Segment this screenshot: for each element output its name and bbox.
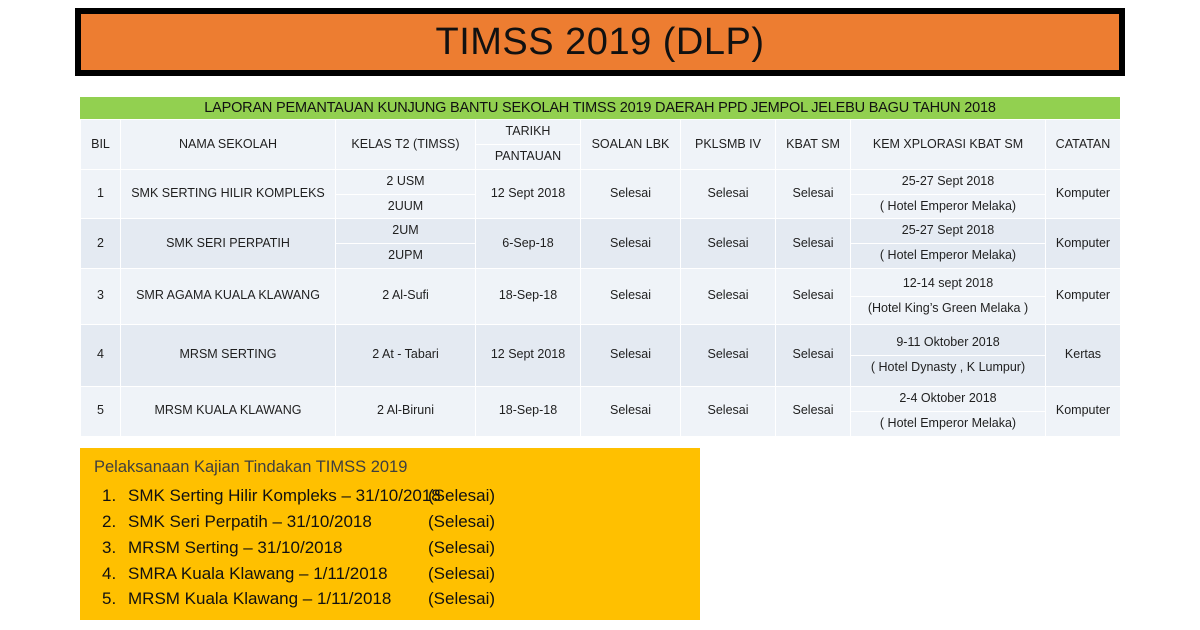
list-item-text: SMK Serting Hilir Kompleks – 31/10/2018 [128, 483, 428, 509]
action-research-summary-box: Pelaksanaan Kajian Tindakan TIMSS 2019 1… [80, 448, 700, 620]
cell-nama-sekolah: SMK SERTING HILIR KOMPLEKS [121, 170, 336, 219]
header-bil: BIL [81, 120, 121, 170]
header-kelas: KELAS T2 (TIMSS) [336, 120, 476, 170]
list-item-text: SMRA Kuala Klawang – 1/11/2018 [128, 561, 428, 587]
cell-kem-xplorasi: 2-4 Oktober 2018 ( Hotel Emperor Melaka) [851, 386, 1046, 436]
cell-kem-line1: 9-11 Oktober 2018 [851, 331, 1045, 356]
list-item: 4. SMRA Kuala Klawang – 1/11/2018 (Seles… [94, 561, 700, 587]
cell-kem-line2: ( Hotel Dynasty , K Lumpur) [851, 356, 1045, 380]
cell-kelas: 2 Al-Sufi [336, 268, 476, 324]
cell-bil: 5 [81, 386, 121, 436]
list-item-status: (Selesai) [428, 483, 495, 509]
cell-kbat-sm: Selesai [776, 386, 851, 436]
cell-bil: 3 [81, 268, 121, 324]
cell-kbat-sm: Selesai [776, 324, 851, 386]
cell-nama-sekolah: SMR AGAMA KUALA KLAWANG [121, 268, 336, 324]
cell-catatan: Komputer [1046, 219, 1121, 268]
cell-kelas-line1: 2UM [336, 219, 475, 244]
cell-kem-line1: 2-4 Oktober 2018 [851, 387, 1045, 412]
cell-kem-line2: ( Hotel Emperor Melaka) [851, 412, 1045, 436]
list-item-number: 1. [94, 483, 128, 509]
cell-kem-xplorasi: 12-14 sept 2018 (Hotel King’s Green Mela… [851, 268, 1046, 324]
summary-list: 1. SMK Serting Hilir Kompleks – 31/10/20… [94, 483, 700, 612]
cell-kelas-line2: 2UPM [336, 244, 475, 268]
header-tarikh-line1: TARIKH [476, 120, 580, 145]
cell-nama-sekolah: MRSM KUALA KLAWANG [121, 386, 336, 436]
report-subtitle-bar: LAPORAN PEMANTAUAN KUNJUNG BANTU SEKOLAH… [80, 97, 1120, 119]
list-item-status: (Selesai) [428, 586, 495, 612]
cell-kem-xplorasi: 25-27 Sept 2018 ( Hotel Emperor Melaka) [851, 170, 1046, 219]
list-item: 3. MRSM Serting – 31/10/2018 (Selesai) [94, 535, 700, 561]
table-header-row: BIL NAMA SEKOLAH KELAS T2 (TIMSS) TARIKH… [81, 120, 1121, 170]
cell-kbat-sm: Selesai [776, 268, 851, 324]
cell-tarikh: 6-Sep-18 [476, 219, 581, 268]
cell-tarikh: 12 Sept 2018 [476, 324, 581, 386]
list-item: 5. MRSM Kuala Klawang – 1/11/2018 (Seles… [94, 586, 700, 612]
header-soalan-lbk: SOALAN LBK [581, 120, 681, 170]
cell-catatan: Komputer [1046, 170, 1121, 219]
cell-soalan-lbk: Selesai [581, 170, 681, 219]
cell-kbat-sm: Selesai [776, 219, 851, 268]
cell-tarikh: 18-Sep-18 [476, 268, 581, 324]
monitoring-table-container: BIL NAMA SEKOLAH KELAS T2 (TIMSS) TARIKH… [80, 119, 1120, 437]
table-row: 5 MRSM KUALA KLAWANG 2 Al-Biruni 18-Sep-… [81, 386, 1121, 436]
list-item-number: 5. [94, 586, 128, 612]
title-banner: TIMSS 2019 (DLP) [75, 8, 1125, 76]
cell-kelas: 2 Al-Biruni [336, 386, 476, 436]
cell-bil: 1 [81, 170, 121, 219]
cell-kem-xplorasi: 25-27 Sept 2018 ( Hotel Emperor Melaka) [851, 219, 1046, 268]
list-item-text: MRSM Kuala Klawang – 1/11/2018 [128, 586, 428, 612]
cell-soalan-lbk: Selesai [581, 386, 681, 436]
cell-bil: 4 [81, 324, 121, 386]
header-catatan: CATATAN [1046, 120, 1121, 170]
cell-pklsmb-iv: Selesai [681, 386, 776, 436]
cell-pklsmb-iv: Selesai [681, 324, 776, 386]
list-item-number: 4. [94, 561, 128, 587]
header-tarikh-pantauan: TARIKH PANTAUAN [476, 120, 581, 170]
list-item-status: (Selesai) [428, 509, 495, 535]
cell-kem-line1: 25-27 Sept 2018 [851, 219, 1045, 244]
list-item-status: (Selesai) [428, 535, 495, 561]
summary-heading: Pelaksanaan Kajian Tindakan TIMSS 2019 [94, 456, 700, 479]
cell-catatan: Kertas [1046, 324, 1121, 386]
cell-kem-line2: ( Hotel Emperor Melaka) [851, 244, 1045, 268]
cell-kem-line2: (Hotel King’s Green Melaka ) [851, 297, 1045, 321]
table-row: 4 MRSM SERTING 2 At - Tabari 12 Sept 201… [81, 324, 1121, 386]
cell-kelas-line1: 2 USM [336, 170, 475, 195]
list-item: 1. SMK Serting Hilir Kompleks – 31/10/20… [94, 483, 700, 509]
list-item-text: SMK Seri Perpatih – 31/10/2018 [128, 509, 428, 535]
slide-page: TIMSS 2019 (DLP) LAPORAN PEMANTAUAN KUNJ… [0, 0, 1200, 630]
cell-kelas: 2 At - Tabari [336, 324, 476, 386]
cell-kem-line2: ( Hotel Emperor Melaka) [851, 195, 1045, 219]
cell-kem-line1: 25-27 Sept 2018 [851, 170, 1045, 195]
cell-kelas: 2UM 2UPM [336, 219, 476, 268]
list-item-number: 3. [94, 535, 128, 561]
list-item-number: 2. [94, 509, 128, 535]
cell-pklsmb-iv: Selesai [681, 219, 776, 268]
cell-nama-sekolah: SMK SERI PERPATIH [121, 219, 336, 268]
table-row: 1 SMK SERTING HILIR KOMPLEKS 2 USM 2UUM … [81, 170, 1121, 219]
report-subtitle-text: LAPORAN PEMANTAUAN KUNJUNG BANTU SEKOLAH… [204, 100, 995, 116]
cell-kem-line1: 12-14 sept 2018 [851, 272, 1045, 297]
list-item-text: MRSM Serting – 31/10/2018 [128, 535, 428, 561]
cell-catatan: Komputer [1046, 386, 1121, 436]
cell-pklsmb-iv: Selesai [681, 268, 776, 324]
cell-bil: 2 [81, 219, 121, 268]
header-pklsmb-iv: PKLSMB IV [681, 120, 776, 170]
table-row: 3 SMR AGAMA KUALA KLAWANG 2 Al-Sufi 18-S… [81, 268, 1121, 324]
list-item: 2. SMK Seri Perpatih – 31/10/2018 (Seles… [94, 509, 700, 535]
header-nama-sekolah: NAMA SEKOLAH [121, 120, 336, 170]
list-item-status: (Selesai) [428, 561, 495, 587]
header-kem-xplorasi: KEM XPLORASI KBAT SM [851, 120, 1046, 170]
header-kbat-sm: KBAT SM [776, 120, 851, 170]
page-title: TIMSS 2019 (DLP) [436, 21, 765, 64]
cell-catatan: Komputer [1046, 268, 1121, 324]
monitoring-table: BIL NAMA SEKOLAH KELAS T2 (TIMSS) TARIKH… [80, 119, 1121, 437]
cell-soalan-lbk: Selesai [581, 219, 681, 268]
cell-kem-xplorasi: 9-11 Oktober 2018 ( Hotel Dynasty , K Lu… [851, 324, 1046, 386]
cell-kbat-sm: Selesai [776, 170, 851, 219]
cell-tarikh: 12 Sept 2018 [476, 170, 581, 219]
cell-kelas: 2 USM 2UUM [336, 170, 476, 219]
table-row: 2 SMK SERI PERPATIH 2UM 2UPM 6-Sep-18 Se… [81, 219, 1121, 268]
cell-kelas-line2: 2UUM [336, 195, 475, 219]
cell-nama-sekolah: MRSM SERTING [121, 324, 336, 386]
cell-soalan-lbk: Selesai [581, 268, 681, 324]
cell-tarikh: 18-Sep-18 [476, 386, 581, 436]
cell-soalan-lbk: Selesai [581, 324, 681, 386]
header-tarikh-line2: PANTAUAN [476, 145, 580, 169]
cell-pklsmb-iv: Selesai [681, 170, 776, 219]
